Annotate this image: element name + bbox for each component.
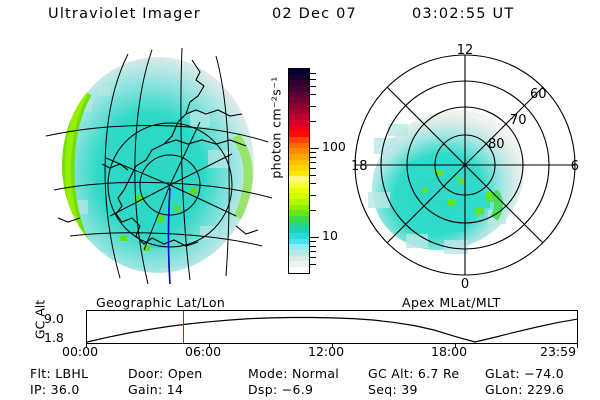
status-glon: GLon: 229.6 xyxy=(485,382,564,397)
colorbar-minor-tick xyxy=(310,162,316,163)
colorbar-minor-tick xyxy=(310,175,316,176)
status-dsp: Dsp: −6.9 xyxy=(248,382,313,397)
orbit-time-label-1800: 18:00 xyxy=(431,344,467,359)
colorbar-minor-tick xyxy=(310,86,316,87)
orbit-plot-frame xyxy=(86,310,578,344)
apex-polar-dial-panel[interactable]: 12 6 0 18 60 70 80 xyxy=(348,42,582,290)
colorbar-minor-tick xyxy=(310,210,316,211)
instrument-title: Ultraviolet Imager xyxy=(48,6,201,22)
colorbar-minor-tick xyxy=(310,168,316,169)
orbit-caption-right: Apex MLat/MLT xyxy=(402,295,501,310)
lat-ring-label-70: 70 xyxy=(510,113,527,128)
colorbar-minor-tick xyxy=(310,183,316,184)
header-bar: Ultraviolet Imager 02 Dec 07 03:02:55 UT xyxy=(0,4,600,30)
colorbar-minor-tick xyxy=(310,94,316,95)
orbit-tick-2359 xyxy=(577,344,578,348)
colorbar-tick-10 xyxy=(310,237,319,238)
status-ip: IP: 36.0 xyxy=(30,382,80,397)
colorbar[interactable]: photon cm⁻²s⁻¹ 100 10 xyxy=(262,60,342,290)
mlt-label-6: 6 xyxy=(571,159,579,174)
orbit-time-label-0000: 00:00 xyxy=(62,344,98,359)
colorbar-minor-tick xyxy=(310,195,316,196)
colorbar-minor-tick xyxy=(310,79,316,80)
orbit-altitude-curve xyxy=(87,311,577,343)
colorbar-minor-tick xyxy=(310,264,316,265)
status-flt: Flt: LBHL xyxy=(30,366,88,381)
orbit-time-label-1200: 12:00 xyxy=(308,344,344,359)
polar-plot: 12 6 0 18 60 70 80 xyxy=(348,42,582,290)
colorbar-minor-tick xyxy=(310,73,316,74)
status-mode: Mode: Normal xyxy=(248,366,339,381)
orbit-time-label-0600: 06:00 xyxy=(185,344,221,359)
colorbar-minor-tick xyxy=(310,152,316,153)
status-door: Door: Open xyxy=(128,366,202,381)
colorbar-minor-tick xyxy=(310,121,316,122)
orbit-altitude-strip[interactable]: Geographic Lat/Lon Apex MLat/MLT GC Alt … xyxy=(30,296,582,358)
lat-ring-label-80: 80 xyxy=(488,137,505,152)
current-time-marker xyxy=(183,311,185,343)
mlt-label-12: 12 xyxy=(457,43,474,58)
status-seq: Seq: 39 xyxy=(368,382,418,397)
orbit-time-label-2359: 23:59 xyxy=(540,344,576,359)
orbit-ytick-top: 9.0 xyxy=(44,311,64,326)
geographic-image-panel[interactable] xyxy=(40,40,280,290)
status-footer: Flt: LBHL IP: 36.0 Door: Open Gain: 14 M… xyxy=(0,364,600,400)
colorbar-minor-tick xyxy=(310,106,316,107)
colorbar-segment xyxy=(289,267,309,273)
status-gain: Gain: 14 xyxy=(128,382,183,397)
geographic-plot xyxy=(40,40,280,290)
colorbar-gradient xyxy=(288,68,310,274)
observation-date: 02 Dec 07 xyxy=(272,6,357,22)
colorbar-minor-tick xyxy=(310,251,316,252)
lat-ring-label-60: 60 xyxy=(530,87,547,102)
colorbar-minor-tick xyxy=(310,157,316,158)
status-glat: GLat: −74.0 xyxy=(485,366,564,381)
mlt-label-0: 0 xyxy=(461,277,469,290)
mlt-label-18: 18 xyxy=(351,159,368,174)
colorbar-minor-tick xyxy=(310,246,316,247)
colorbar-minor-tick xyxy=(310,241,316,242)
observation-time: 03:02:55 UT xyxy=(412,6,514,22)
status-gcalt: GC Alt: 6.7 Re xyxy=(368,366,459,381)
colorbar-tick-label-100: 100 xyxy=(322,141,346,154)
colorbar-minor-tick xyxy=(310,257,316,258)
colorbar-axis-label: photon cm⁻²s⁻¹ xyxy=(269,68,284,188)
colorbar-tick-100 xyxy=(310,148,319,149)
geographic-aurora-field xyxy=(59,57,255,282)
orbit-caption-left: Geographic Lat/Lon xyxy=(96,295,225,310)
colorbar-tick-label-10: 10 xyxy=(322,230,338,243)
orbit-ytick-bottom: 1.8 xyxy=(44,330,64,345)
